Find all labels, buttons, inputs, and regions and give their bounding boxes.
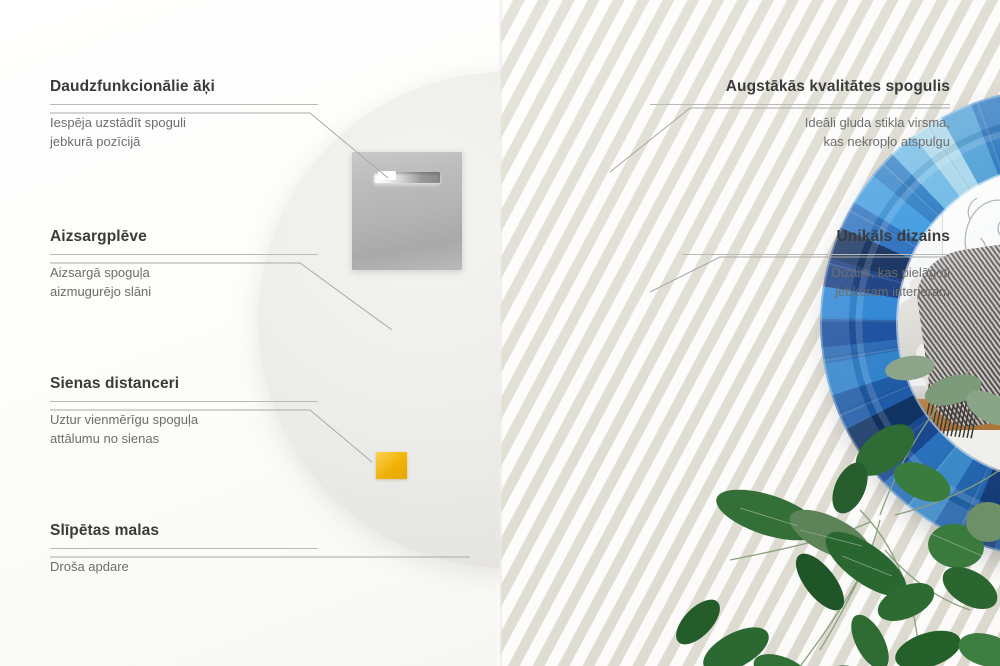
callout-title: Daudzfunkcionālie āķi: [50, 78, 318, 96]
callout-protective-film[interactable]: Aizsargplēve Aizsargā spoguļa aizmugurēj…: [50, 228, 318, 302]
callout-rule: [50, 104, 318, 105]
callout-title: Sienas distanceri: [50, 375, 318, 393]
callout-rule: [650, 104, 950, 105]
callout-wall-spacers[interactable]: Sienas distanceri Uztur vienmērīgu spogu…: [50, 375, 318, 449]
callout-description: Dizaini, kas pielāgoti jebkuram interjer…: [682, 264, 950, 302]
callout-rule: [682, 254, 950, 255]
callout-title: Augstākās kvalitātes spogulis: [650, 78, 950, 96]
callout-description: Aizsargā spoguļa aizmugurējo slāni: [50, 264, 318, 302]
callout-title: Aizsargplēve: [50, 228, 318, 246]
callout-description: Uztur vienmērīgu spoguļa attālumu no sie…: [50, 411, 318, 449]
callout-polished-edges[interactable]: Slīpētas malas Droša apdare: [50, 522, 318, 577]
decorative-plant: [670, 350, 1000, 666]
hook-slot-icon: [374, 172, 440, 183]
callout-description: Ideāli gluda stikla virsma, kas nekropļo…: [650, 114, 950, 152]
callout-rule: [50, 548, 318, 549]
callout-title: Unikāls dizains: [682, 228, 950, 246]
callout-multifunction-hooks[interactable]: Daudzfunkcionālie āķi Iespēja uzstādīt s…: [50, 78, 318, 152]
callout-unique-design[interactable]: Unikāls dizains Dizaini, kas pielāgoti j…: [682, 228, 950, 302]
infographic-canvas: Daudzfunkcionālie āķi Iespēja uzstādīt s…: [0, 0, 1000, 666]
multifunction-hook-plate: [352, 152, 462, 270]
callout-description: Iespēja uzstādīt spoguli jebkurā pozīcij…: [50, 114, 318, 152]
yellow-wall-spacer: [376, 452, 407, 479]
callout-rule: [50, 254, 318, 255]
callout-title: Slīpētas malas: [50, 522, 318, 540]
callout-description: Droša apdare: [50, 558, 318, 577]
callout-top-quality-mirror[interactable]: Augstākās kvalitātes spogulis Ideāli glu…: [650, 78, 950, 152]
callout-rule: [50, 401, 318, 402]
